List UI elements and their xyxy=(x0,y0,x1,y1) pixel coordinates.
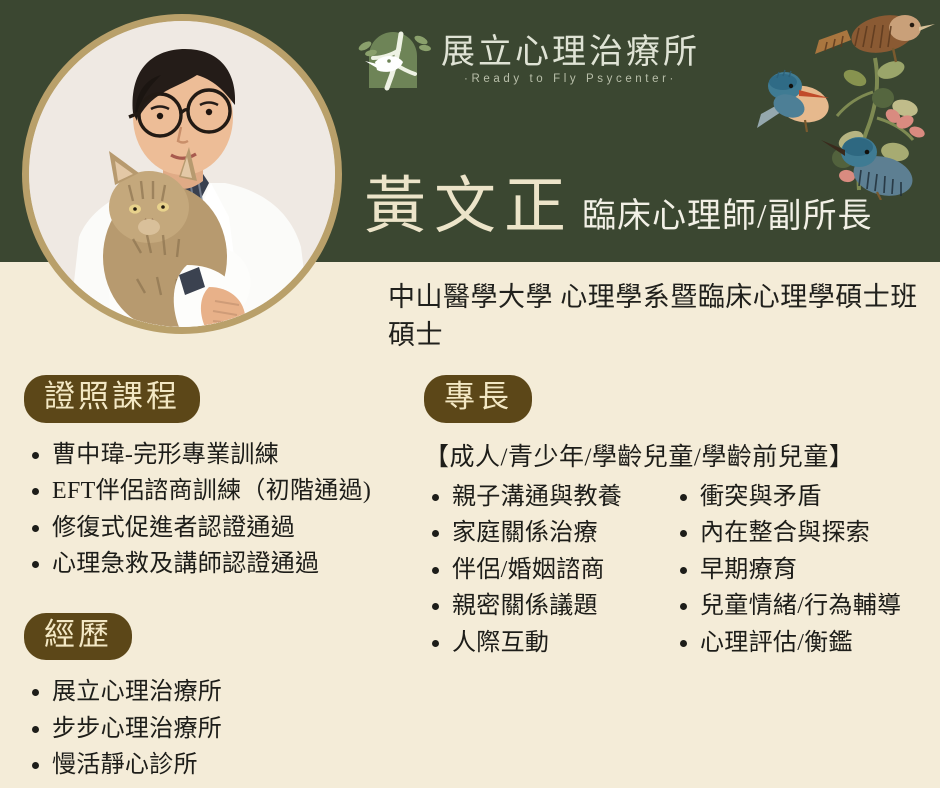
clinic-logo: 展立心理治療所 ·Ready to Fly Psycenter· xyxy=(355,20,700,96)
education-text: 中山醫學大學 心理學系暨臨床心理學碩士班 碩士 xyxy=(388,278,924,355)
portrait-photo xyxy=(29,21,335,327)
list-item: 心理急救及講師認證通過 xyxy=(24,546,414,582)
list-item: 步步心理治療所 xyxy=(24,711,414,747)
list-item: 衝突與矛盾 xyxy=(672,479,924,515)
specialties-list-b: 衝突與矛盾 內在整合與探索 早期療育 兒童情緒/行為輔導 心理評估/衡鑑 xyxy=(672,479,924,661)
list-item: 慢活靜心診所 xyxy=(24,747,414,783)
avatar xyxy=(22,14,342,334)
person-job-title: 臨床心理師/副所長 xyxy=(582,200,872,234)
specialties-columns: 親子溝通與教養 家庭關係治療 伴侶/婚姻諮商 親密關係議題 人際互動 衝突與矛盾… xyxy=(424,479,924,661)
certifications-list: 曹中瑋-完形專業訓練 EFT伴侶諮商訓練（初階通過) 修復式促進者認證通過 心理… xyxy=(24,437,414,583)
experience-list: 展立心理治療所 步步心理治療所 慢活靜心診所 xyxy=(24,674,414,783)
list-item: 親子溝通與教養 xyxy=(424,479,672,515)
list-item: 曹中瑋-完形專業訓練 xyxy=(24,437,414,473)
list-item: 兒童情緒/行為輔導 xyxy=(672,588,924,624)
list-item: 心理評估/衡鑑 xyxy=(672,625,924,661)
list-item: 親密關係議題 xyxy=(424,588,672,624)
list-item: EFT伴侶諮商訓練（初階通過) xyxy=(24,473,414,509)
specialties-badge: 專長 xyxy=(424,375,532,423)
clinic-logo-title: 展立心理治療所 xyxy=(441,35,700,71)
right-column: 專長 【成人/青少年/學齡兒童/學齡前兒童】 親子溝通與教養 家庭關係治療 伴侶… xyxy=(424,375,924,661)
bird-branch-logo-icon xyxy=(355,20,431,96)
specialties-list-a: 親子溝通與教養 家庭關係治療 伴侶/婚姻諮商 親密關係議題 人際互動 xyxy=(424,479,672,661)
list-item: 展立心理治療所 xyxy=(24,674,414,710)
clinic-logo-subtitle: ·Ready to Fly Psycenter· xyxy=(441,73,700,85)
list-item: 家庭關係治療 xyxy=(424,515,672,551)
certifications-badge: 證照課程 xyxy=(24,375,200,423)
list-item: 早期療育 xyxy=(672,552,924,588)
list-item: 伴侶/婚姻諮商 xyxy=(424,552,672,588)
left-column: 證照課程 曹中瑋-完形專業訓練 EFT伴侶諮商訓練（初階通過) 修復式促進者認證… xyxy=(24,375,414,784)
page-title: 黃文正 xyxy=(364,176,574,238)
experience-badge: 經歷 xyxy=(24,613,132,661)
specialties-age-range: 【成人/青少年/學齡兒童/學齡前兒童】 xyxy=(424,437,924,473)
list-item: 人際互動 xyxy=(424,625,672,661)
list-item: 內在整合與探索 xyxy=(672,515,924,551)
experience-section: 經歷 展立心理治療所 步步心理治療所 慢活靜心診所 xyxy=(24,613,414,784)
list-item: 修復式促進者認證通過 xyxy=(24,510,414,546)
person-name-row: 黃文正 臨床心理師/副所長 xyxy=(364,176,872,238)
psychologist-profile-card: 展立心理治療所 ·Ready to Fly Psycenter· xyxy=(0,0,940,788)
